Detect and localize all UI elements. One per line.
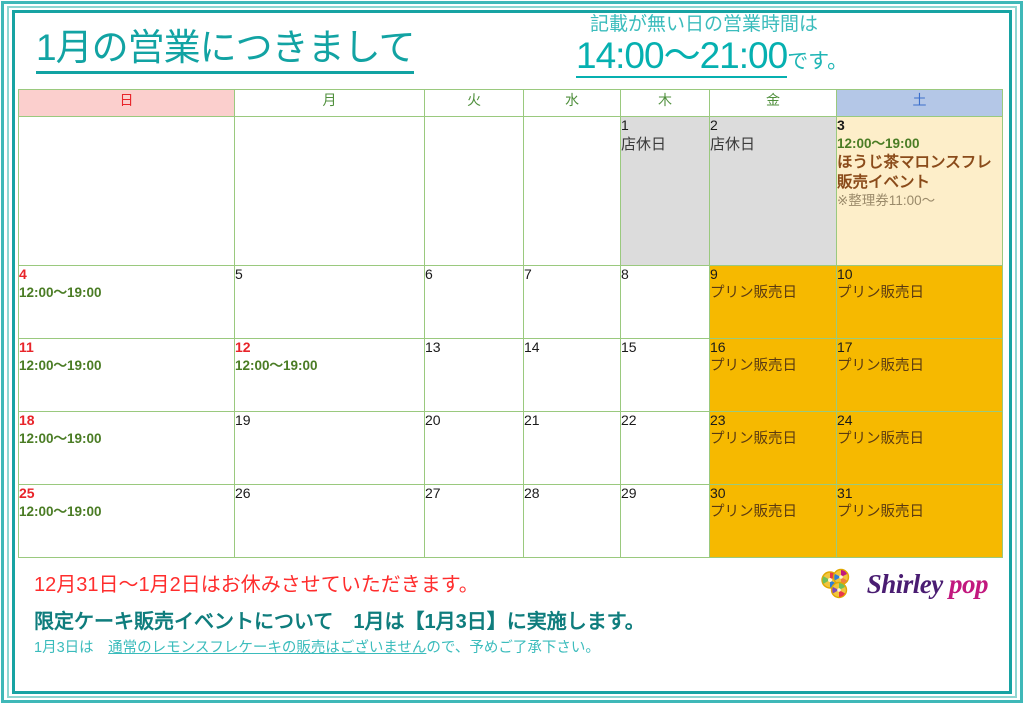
- calendar-day-cell-15: 15: [621, 339, 710, 412]
- day-hours: 12:00〜19:00: [19, 357, 234, 375]
- day-number: 11: [19, 339, 234, 357]
- calendar-day-cell-27: 27: [425, 485, 524, 558]
- calendar-day-cell-11: 1112:00〜19:00: [19, 339, 235, 412]
- day-sale-label: プリン販売日: [837, 430, 1002, 449]
- default-hours-note: 記載が無い日の営業時間は: [576, 15, 996, 36]
- calendar-day-cell-20: 20: [425, 412, 524, 485]
- day-number: 15: [621, 339, 709, 357]
- calendar-day-cell-empty-mon: [235, 117, 425, 266]
- calendar-day-cell-22: 22: [621, 412, 710, 485]
- day-number: 19: [235, 412, 424, 430]
- calendar-day-cell-19: 19: [235, 412, 425, 485]
- calendar-day-cell-3: 312:00〜19:00ほうじ茶マロンスフレ販売イベント※整理券11:00〜: [837, 117, 1003, 266]
- calendar-day-cell-2: 2店休日: [710, 117, 837, 266]
- calendar-day-cell-empty-wed: [524, 117, 621, 266]
- calendar-body: 1店休日2店休日312:00〜19:00ほうじ茶マロンスフレ販売イベント※整理券…: [19, 117, 1003, 558]
- calendar-day-cell-9: 9プリン販売日: [710, 266, 837, 339]
- calendar-day-cell-25: 2512:00〜19:00: [19, 485, 235, 558]
- calendar-week-row: 412:00〜19:0056789プリン販売日10プリン販売日: [19, 266, 1003, 339]
- calendar-day-cell-24: 24プリン販売日: [837, 412, 1003, 485]
- brand-name: Shirley pop: [867, 569, 988, 600]
- default-hours-line: 14:00〜21:00です。: [576, 37, 996, 74]
- page-title: 1月の営業につきまして: [36, 29, 414, 74]
- calendar-day-cell-empty-tue: [425, 117, 524, 266]
- day-sale-label: プリン販売日: [710, 284, 836, 303]
- day-number: 26: [235, 485, 424, 503]
- day-number: 23: [710, 412, 836, 430]
- calendar-day-cell-16: 16プリン販売日: [710, 339, 837, 412]
- day-sale-label: プリン販売日: [710, 503, 836, 522]
- default-hours-block: 記載が無い日の営業時間は 14:00〜21:00です。: [576, 15, 996, 74]
- calendar-day-cell-26: 26: [235, 485, 425, 558]
- brand-name-secondary: pop: [949, 569, 988, 599]
- day-event-name: ほうじ茶マロンスフレ販売イベント: [837, 153, 1002, 192]
- day-number: 7: [524, 266, 620, 284]
- default-hours-suffix: です。: [787, 50, 848, 73]
- weekday-header-sat: 土: [837, 90, 1003, 117]
- day-number: 17: [837, 339, 1002, 357]
- day-number: 25: [19, 485, 234, 503]
- day-number: 8: [621, 266, 709, 284]
- calendar-day-cell-21: 21: [524, 412, 621, 485]
- cake-event-notice: 限定ケーキ販売イベントについて 1月は【1月3日】に実施します。: [34, 607, 1006, 637]
- weekday-header-fri: 金: [710, 90, 837, 117]
- day-number: 18: [19, 412, 234, 430]
- day-sale-label: プリン販売日: [710, 357, 836, 376]
- day-sale-label: プリン販売日: [837, 284, 1002, 303]
- monthly-calendar-table: 日 月 火 水 木 金 土 1店休日2店休日312:00〜19:00ほうじ茶マロ…: [18, 89, 1003, 558]
- calendar-week-row: 1店休日2店休日312:00〜19:00ほうじ茶マロンスフレ販売イベント※整理券…: [19, 117, 1003, 266]
- day-number: 2: [710, 117, 836, 135]
- calendar-day-cell-4: 412:00〜19:00: [19, 266, 235, 339]
- calendar-day-cell-12: 1212:00〜19:00: [235, 339, 425, 412]
- weekday-header-thu: 木: [621, 90, 710, 117]
- calendar-day-cell-5: 5: [235, 266, 425, 339]
- brand-logo: Shirley pop: [817, 568, 988, 600]
- day-number: 14: [524, 339, 620, 357]
- day-sale-label: プリン販売日: [837, 503, 1002, 522]
- calendar-week-row: 2512:00〜19:002627282930プリン販売日31プリン販売日: [19, 485, 1003, 558]
- day-number: 29: [621, 485, 709, 503]
- day-number: 1: [621, 117, 709, 135]
- calendar-day-cell-30: 30プリン販売日: [710, 485, 837, 558]
- day-closed-label: 店休日: [621, 135, 709, 155]
- calendar-day-cell-13: 13: [425, 339, 524, 412]
- day-number: 16: [710, 339, 836, 357]
- weekday-header-tue: 火: [425, 90, 524, 117]
- poster-header: 1月の営業につきまして 記載が無い日の営業時間は 14:00〜21:00です。: [18, 15, 1006, 87]
- calendar-day-cell-23: 23プリン販売日: [710, 412, 837, 485]
- calendar-day-cell-8: 8: [621, 266, 710, 339]
- calendar-header-row: 日 月 火 水 木 金 土: [19, 90, 1003, 117]
- calendar-day-cell-18: 1812:00〜19:00: [19, 412, 235, 485]
- day-number: 22: [621, 412, 709, 430]
- day-number: 13: [425, 339, 523, 357]
- calendar-day-cell-14: 14: [524, 339, 621, 412]
- candy-slices-icon: [817, 568, 861, 600]
- day-number: 3: [837, 117, 1002, 135]
- poster-footer: 12月31日〜1月2日はお休みさせていただきます。 限定ケーキ販売イベントについ…: [18, 570, 1006, 660]
- subnote-suffix: ので、予めご了承下さい。: [426, 640, 599, 656]
- weekday-header-wed: 水: [524, 90, 621, 117]
- subnote-underlined: 通常のレモンスフレケーキの販売はございません: [108, 640, 426, 656]
- day-number: 24: [837, 412, 1002, 430]
- day-number: 5: [235, 266, 424, 284]
- calendar-day-cell-28: 28: [524, 485, 621, 558]
- default-hours-time: 14:00〜21:00: [576, 35, 787, 78]
- day-hours: 12:00〜19:00: [837, 135, 1002, 154]
- brand-name-primary: Shirley: [867, 569, 943, 599]
- day-sale-label: プリン販売日: [837, 357, 1002, 376]
- day-hours: 12:00〜19:00: [235, 357, 424, 375]
- day-event-note: ※整理券11:00〜: [837, 192, 1002, 211]
- poster-content: 1月の営業につきまして 記載が無い日の営業時間は 14:00〜21:00です。 …: [18, 15, 1006, 689]
- day-hours: 12:00〜19:00: [19, 503, 234, 521]
- day-number: 30: [710, 485, 836, 503]
- day-number: 9: [710, 266, 836, 284]
- calendar-day-cell-29: 29: [621, 485, 710, 558]
- subnote-prefix: 1月3日は: [34, 640, 108, 656]
- day-number: 31: [837, 485, 1002, 503]
- day-number: 21: [524, 412, 620, 430]
- day-number: 12: [235, 339, 424, 357]
- cake-event-subnote: 1月3日は 通常のレモンスフレケーキの販売はございませんので、予めご了承下さい。: [34, 638, 1006, 660]
- calendar-day-cell-empty-sun: [19, 117, 235, 266]
- calendar-day-cell-6: 6: [425, 266, 524, 339]
- calendar-day-cell-10: 10プリン販売日: [837, 266, 1003, 339]
- day-number: 4: [19, 266, 234, 284]
- day-hours: 12:00〜19:00: [19, 284, 234, 302]
- day-number: 27: [425, 485, 523, 503]
- day-sale-label: プリン販売日: [710, 430, 836, 449]
- day-number: 28: [524, 485, 620, 503]
- weekday-header-sun: 日: [19, 90, 235, 117]
- calendar-poster: 1月の営業につきまして 記載が無い日の営業時間は 14:00〜21:00です。 …: [0, 0, 1024, 704]
- calendar-day-cell-31: 31プリン販売日: [837, 485, 1003, 558]
- day-closed-label: 店休日: [710, 135, 836, 155]
- calendar-day-cell-7: 7: [524, 266, 621, 339]
- weekday-header-mon: 月: [235, 90, 425, 117]
- day-hours: 12:00〜19:00: [19, 430, 234, 448]
- day-number: 20: [425, 412, 523, 430]
- day-number: 10: [837, 266, 1002, 284]
- calendar-day-cell-17: 17プリン販売日: [837, 339, 1003, 412]
- day-number: 6: [425, 266, 523, 284]
- calendar-week-row: 1812:00〜19:001920212223プリン販売日24プリン販売日: [19, 412, 1003, 485]
- calendar-day-cell-1: 1店休日: [621, 117, 710, 266]
- calendar-week-row: 1112:00〜19:001212:00〜19:0013141516プリン販売日…: [19, 339, 1003, 412]
